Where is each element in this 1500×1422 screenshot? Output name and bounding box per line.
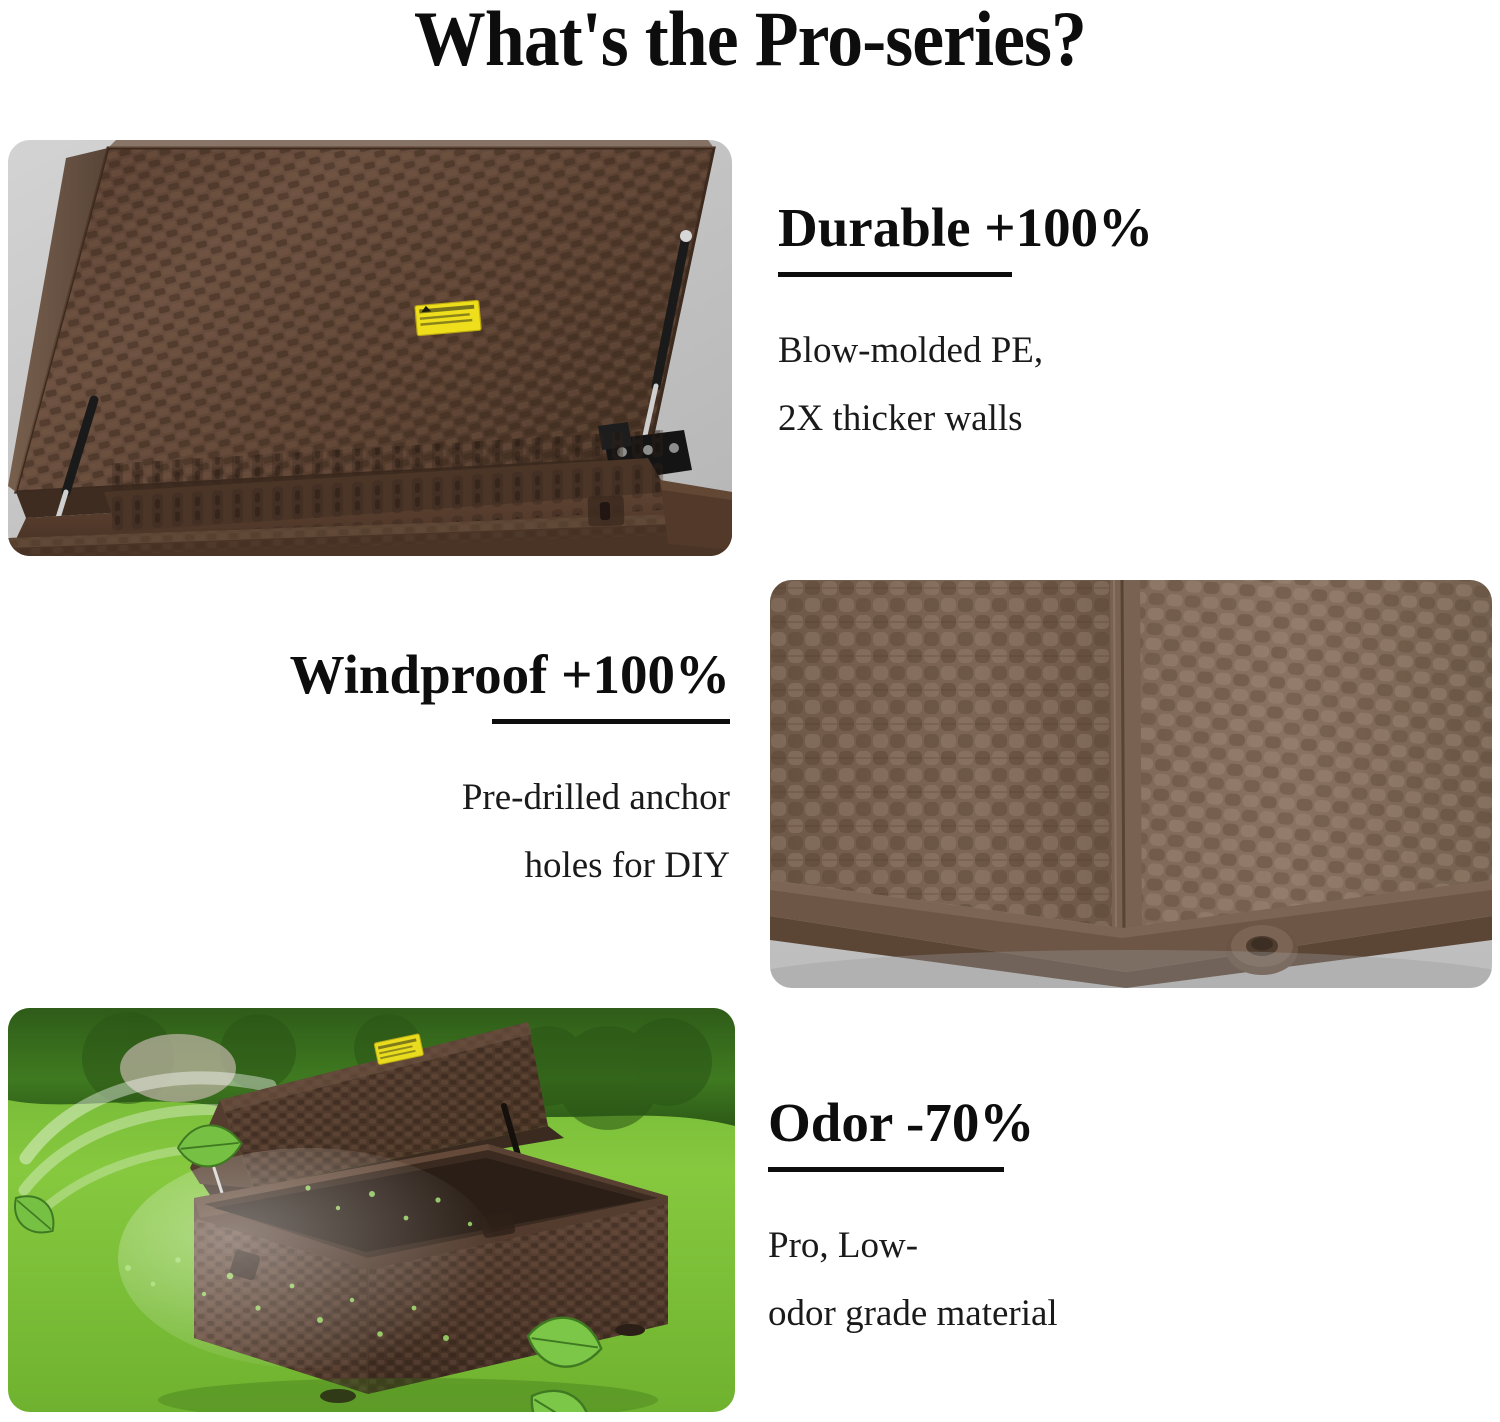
page-title: What's the Pro-series? (60, 0, 1440, 84)
lawn-scene-illustration (8, 1008, 735, 1412)
feature-block-durable: Durable +100% Blow-molded PE, 2X thicker… (778, 198, 1153, 453)
wicker-corner-anchor-hole-photo (770, 580, 1492, 988)
feature-body-odor-line1: Pro, Low- (768, 1172, 1058, 1280)
feature-block-windproof: Windproof +100% Pre-drilled anchor holes… (272, 645, 730, 900)
feature-body-windproof-line1: Pre-drilled anchor (272, 724, 730, 832)
feature-heading-windproof: Windproof +100% (272, 645, 730, 705)
warning-label-sticker (415, 300, 481, 335)
feature-heading-durable: Durable +100% (778, 198, 1153, 258)
deck-box-on-lawn-photo (8, 1008, 735, 1412)
feature-body-windproof-line2: holes for DIY (272, 832, 730, 900)
feature-body-durable-line2: 2X thicker walls (778, 385, 1153, 453)
open-lid-illustration (8, 140, 732, 556)
wicker-corner-illustration (770, 580, 1492, 988)
feature-body-durable-line1: Blow-molded PE, (778, 277, 1153, 385)
feature-body-odor-line2: odor grade material (768, 1280, 1058, 1348)
feature-block-odor: Odor -70% Pro, Low- odor grade material (768, 1093, 1058, 1348)
feature-heading-odor: Odor -70% (768, 1093, 1058, 1153)
open-deck-box-lid-photo (8, 140, 732, 556)
